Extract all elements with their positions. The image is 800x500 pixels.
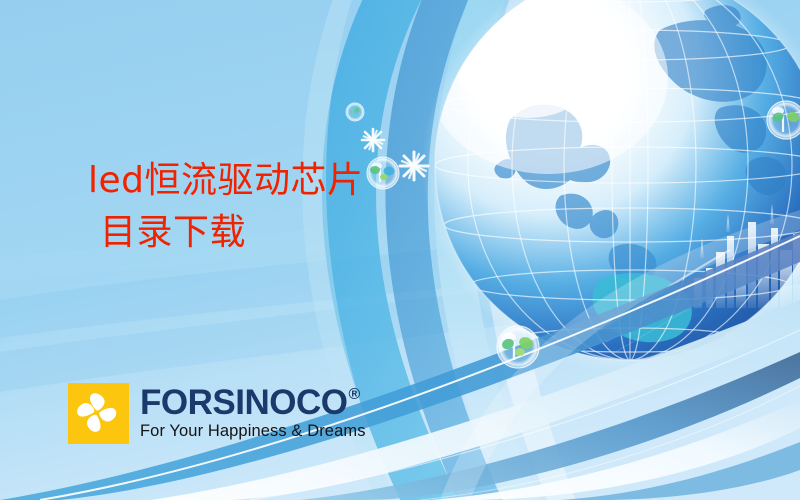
bubble-lower-center bbox=[497, 326, 539, 368]
bubble-upper-right bbox=[767, 101, 800, 139]
company-logo: FORSINOCO ® For Your Happiness & Dreams bbox=[68, 383, 366, 444]
logo-pinwheel-icon bbox=[68, 383, 129, 444]
logo-wordmark-row: FORSINOCO ® bbox=[140, 386, 366, 419]
registered-trademark-icon: ® bbox=[348, 387, 359, 403]
logo-tagline: For Your Happiness & Dreams bbox=[140, 422, 366, 441]
logo-text-block: FORSINOCO ® For Your Happiness & Dreams bbox=[140, 386, 366, 440]
headline-line-1: led恒流驱动芯片 bbox=[88, 163, 364, 199]
headline: led恒流驱动芯片 目录下载 bbox=[88, 163, 364, 251]
logo-wordmark: FORSINOCO bbox=[140, 386, 347, 419]
headline-line-2: 目录下载 bbox=[88, 215, 364, 251]
slide-canvas: led恒流驱动芯片 目录下载 FORSINOCO ® For Your Happ… bbox=[0, 0, 800, 500]
bubble-top-small bbox=[346, 103, 364, 121]
bubble-mid-left bbox=[367, 157, 399, 189]
